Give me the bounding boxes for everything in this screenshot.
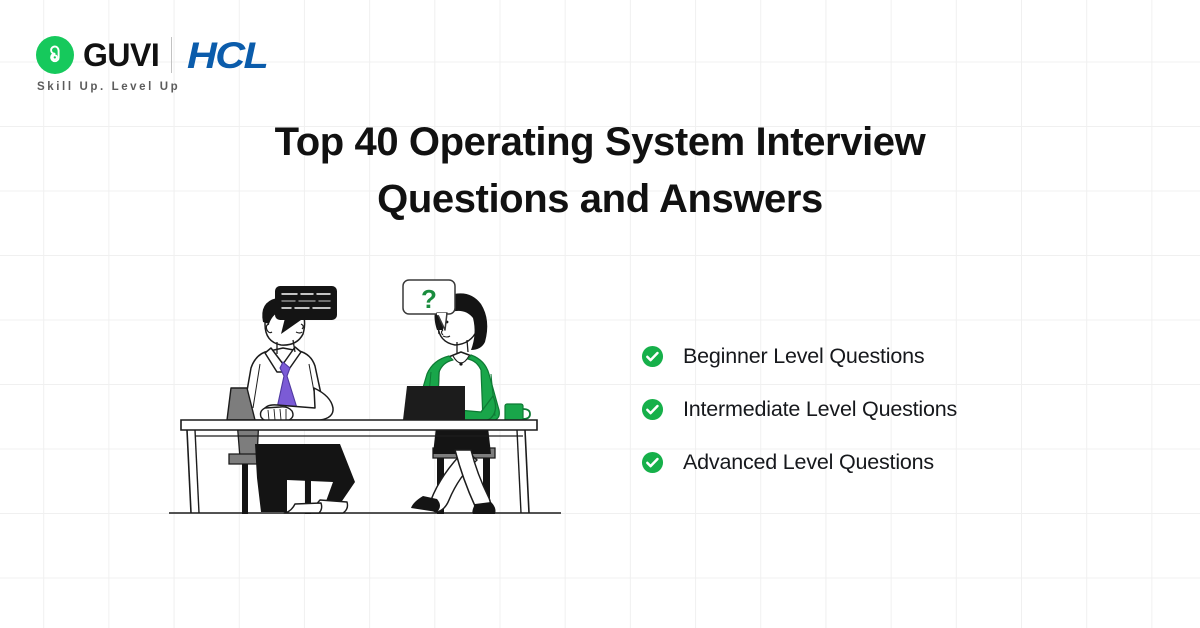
man-hands bbox=[261, 407, 294, 421]
check-circle-icon bbox=[641, 398, 664, 421]
guvi-wordmark: GUVI bbox=[83, 39, 159, 71]
interview-scene-illustration: ? bbox=[165, 268, 575, 523]
brand-logo-group: GUVI HCL bbox=[36, 36, 259, 74]
page-title-line-1: Top 40 Operating System Interview bbox=[0, 114, 1200, 171]
topic-list: Beginner Level Questions Intermediate Le… bbox=[641, 330, 957, 489]
list-item-label: Beginner Level Questions bbox=[683, 344, 924, 369]
logo-divider bbox=[171, 37, 172, 73]
page-title-line-2: Questions and Answers bbox=[0, 171, 1200, 228]
list-item: Beginner Level Questions bbox=[641, 330, 957, 383]
page-title: Top 40 Operating System Interview Questi… bbox=[0, 114, 1200, 228]
check-circle-icon bbox=[641, 451, 664, 474]
list-item: Advanced Level Questions bbox=[641, 436, 957, 489]
list-item: Intermediate Level Questions bbox=[641, 383, 957, 436]
guvi-g-mark-icon bbox=[36, 36, 74, 74]
man-shoe-back bbox=[284, 503, 322, 513]
list-item-label: Intermediate Level Questions bbox=[683, 397, 957, 422]
svg-text:?: ? bbox=[421, 284, 437, 314]
banner-root: GUVI HCL Skill Up. Level Up Top 40 Opera… bbox=[0, 0, 1200, 628]
answer-speech-bubble bbox=[275, 286, 337, 334]
list-item-label: Advanced Level Questions bbox=[683, 450, 934, 475]
brand-tagline: Skill Up. Level Up bbox=[37, 81, 180, 93]
woman-laptop bbox=[399, 386, 471, 425]
hcl-wordmark: HCL bbox=[187, 37, 267, 74]
check-circle-icon bbox=[641, 345, 664, 368]
